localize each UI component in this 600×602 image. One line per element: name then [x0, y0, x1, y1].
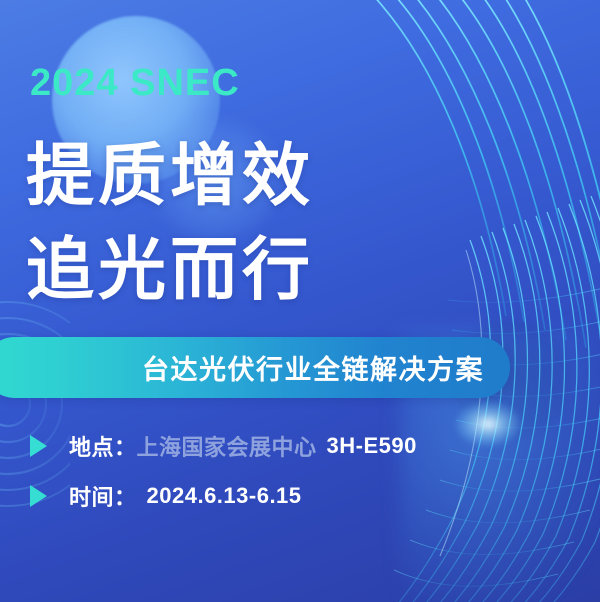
headline-line-1: 提质增效 [26, 142, 314, 210]
banner-content: 2024 SNEC 提质增效 追光而行 台达光伏行业全链解决方案 地点： 上海国… [0, 0, 600, 602]
time-value: 2024.6.13-6.15 [147, 483, 302, 509]
play-triangle-icon [30, 435, 47, 457]
event-eyebrow: 2024 SNEC [30, 64, 240, 102]
solution-pill: 台达光伏行业全链解决方案 [0, 337, 510, 398]
time-row: 时间： 2024.6.13-6.15 [30, 480, 302, 512]
location-row: 地点： 上海国家会展中心 3H-E590 [30, 430, 417, 462]
play-triangle-icon [30, 485, 47, 507]
location-booth: 3H-E590 [327, 433, 417, 459]
solution-pill-label: 台达光伏行业全链解决方案 [142, 348, 510, 387]
location-label: 地点： [69, 430, 137, 462]
time-label: 时间： [69, 480, 137, 512]
promo-banner: 2024 SNEC 提质增效 追光而行 台达光伏行业全链解决方案 地点： 上海国… [0, 0, 600, 602]
headline-line-2: 追光而行 [26, 236, 314, 304]
location-venue: 上海国家会展中心 [137, 430, 317, 462]
